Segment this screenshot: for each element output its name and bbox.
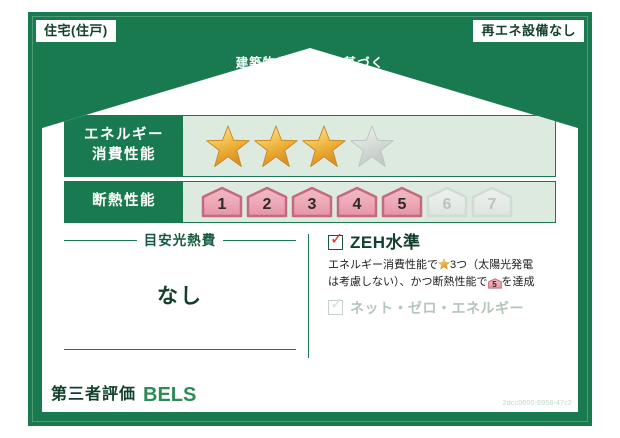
insulation-house-2-number: 2 (263, 197, 272, 218)
insulation-performance-row: 断熱性能 1 2 3 4 (64, 181, 556, 223)
bels-japanese-label: 第三者評価 (51, 387, 136, 403)
star-icon-filled-2 (253, 123, 299, 169)
insulation-house-6: 6 (426, 186, 468, 218)
star-icon-inline (438, 258, 450, 270)
building-type-tag: 住宅(住戸) (36, 20, 116, 42)
evaluation-code: 2dcc0600-6958-47c2 (446, 396, 572, 407)
evaluation-date-value: 2025年9月11日 (487, 383, 572, 397)
energy-performance-row: エネルギー 消費性能 (64, 115, 556, 177)
renewable-equipment-tag: 再エネ設備なし (473, 20, 584, 42)
label-footer: 第三者評価 BELS FIT川口市赤井1期1号棟 評価日 2025年9月11日 … (42, 378, 578, 412)
bels-logo-text: BELS (136, 385, 196, 405)
zeh-desc-star-count: 3つ（太陽光発電 (450, 259, 533, 271)
utility-cost-value: なし (64, 248, 296, 310)
zeh-section: ✓ ZEH水準 エネルギー消費性能で3つ（太陽光発電 は考慮しない）、かつ断熱性… (328, 234, 558, 315)
zeh-heading-row: ✓ ZEH水準 (328, 234, 558, 251)
check-icon-disabled: ✓ (330, 297, 343, 313)
utility-cost-section: 目安光熱費 なし (64, 234, 296, 358)
net-zero-energy-checkbox[interactable]: ✓ (328, 300, 343, 315)
energy-label-line1: エネルギー (84, 126, 164, 146)
insulation-house-5: 5 (381, 186, 423, 218)
cost-rule-right (223, 240, 296, 241)
bels-badge: 第三者評価 BELS (44, 382, 203, 408)
insulation-performance-label: 断熱性能 (65, 182, 183, 222)
insulation-level-scale: 1 2 3 4 5 (183, 182, 555, 222)
insulation-house-1-number: 1 (218, 197, 227, 218)
inline-house-number: 5 (488, 277, 502, 292)
star-icon-filled-1 (205, 123, 251, 169)
star-icon-empty-4 (349, 123, 395, 169)
insulation-house-7-number: 7 (488, 197, 497, 218)
energy-star-rating (183, 116, 555, 176)
insulation-house-1: 1 (201, 186, 243, 218)
insulation-house-5-number: 5 (398, 197, 407, 218)
utility-cost-heading-row: 目安光熱費 (64, 234, 296, 248)
star-icon-filled-3 (301, 123, 347, 169)
evaluation-date: 評価日 2025年9月11日 (446, 384, 572, 396)
insulation-house-2: 2 (246, 186, 288, 218)
cost-rule-left (64, 240, 137, 241)
insulation-house-icon-inline: 5 (488, 277, 502, 289)
evaluation-date-label: 評価日 (446, 383, 483, 397)
insulation-house-7: 7 (471, 186, 513, 218)
insulation-house-3-number: 3 (308, 197, 317, 218)
check-icon: ✓ (330, 232, 343, 248)
zeh-checkbox-checked[interactable]: ✓ (328, 235, 343, 250)
zeh-desc-part2: は考慮しない）、かつ断熱性能で (328, 276, 488, 288)
zeh-desc-part3: を達成 (502, 276, 535, 288)
energy-performance-label: エネルギー 消費性能 (65, 116, 183, 176)
insulation-house-4: 4 (336, 186, 378, 218)
energy-label-line2: 消費性能 (92, 146, 156, 166)
insulation-house-4-number: 4 (353, 197, 362, 218)
net-zero-energy-label: ネット・ゼロ・エネルギー (350, 301, 524, 315)
utility-cost-heading: 目安光熱費 (137, 234, 224, 248)
evaluation-info: 評価日 2025年9月11日 2dcc0600-6958-47c2 (446, 384, 578, 407)
zeh-title: ZEH水準 (350, 234, 421, 251)
property-name: FIT川口市赤井1期1号棟 (203, 390, 327, 401)
energy-performance-label: 建築物省エネ法に基づく 省エネ性能ラベル エネルギー 消費性能 (28, 12, 592, 426)
insulation-label-line1: 断熱性能 (92, 192, 156, 212)
insulation-house-3: 3 (291, 186, 333, 218)
zeh-description: エネルギー消費性能で3つ（太陽光発電 は考慮しない）、かつ断熱性能で5を達成 (328, 251, 558, 291)
zeh-desc-part1: エネルギー消費性能で (328, 259, 438, 271)
section-divider (308, 234, 309, 358)
cost-bottom-rule (64, 349, 296, 350)
insulation-house-6-number: 6 (443, 197, 452, 218)
net-zero-energy-row: ✓ ネット・ゼロ・エネルギー (328, 291, 558, 315)
